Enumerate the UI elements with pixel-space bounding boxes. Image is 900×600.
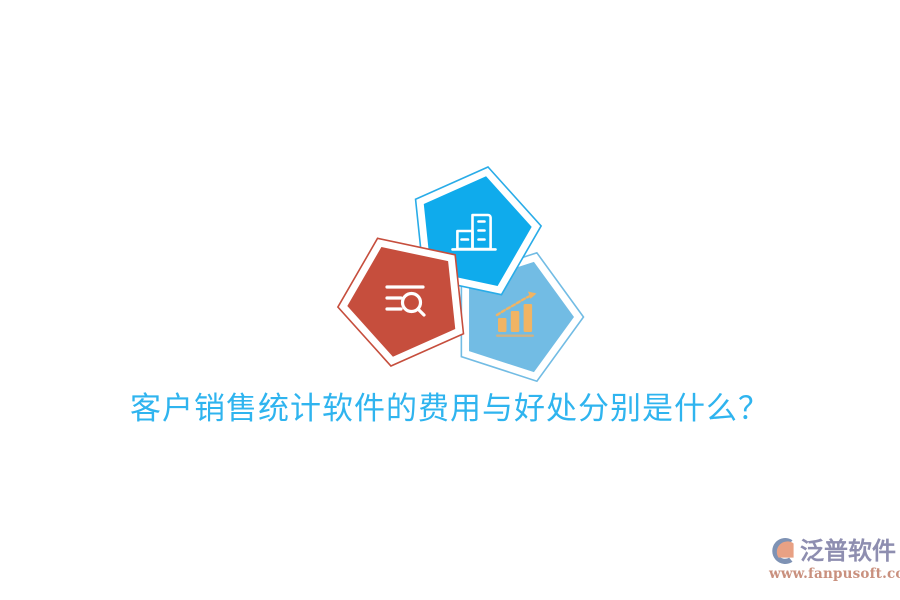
- page-title: 客户销售统计软件的费用与好处分别是什么？: [0, 388, 900, 430]
- brand-url: www.fanpusoft.com: [769, 566, 894, 582]
- pentagon-badge-cluster: [330, 155, 600, 390]
- page-canvas: 客户销售统计软件的费用与好处分别是什么？ 泛普软件 www.fanpusoft.…: [0, 0, 900, 600]
- brand-watermark: 泛普软件 www.fanpusoft.com: [768, 534, 894, 592]
- brand-name: 泛普软件: [800, 537, 896, 565]
- fanpu-logo-icon: [768, 536, 798, 566]
